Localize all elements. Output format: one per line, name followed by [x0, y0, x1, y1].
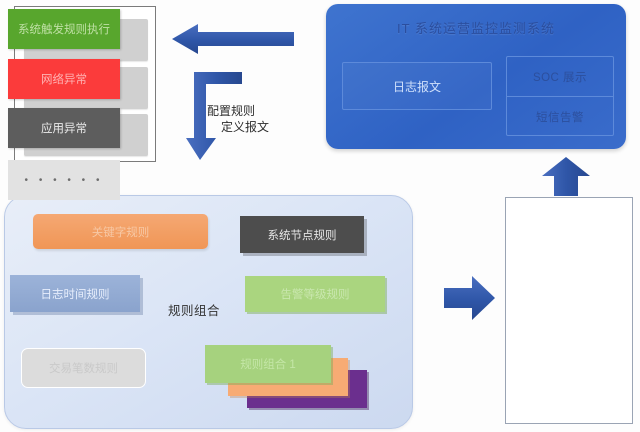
rule-combo-stack-1[interactable]: 规则组合 1 — [205, 345, 331, 383]
it-system-soc-display[interactable]: SOC 展示 — [507, 57, 613, 97]
diagram-canvas: 日志报文 1 日志报文 2 日志报文 3 — [0, 0, 640, 432]
result-item-more-dots[interactable]: • • • • • • — [8, 160, 120, 200]
result-item-rule-triggered[interactable]: 系统触发规则执行 — [8, 9, 120, 49]
config-rule-label: 配置规则 定义报文 — [207, 103, 269, 135]
rule-combination-label: 规则组合 — [168, 300, 220, 319]
rule-chip-system-node[interactable]: 系统节点规则 — [240, 216, 364, 253]
result-item-application-exception[interactable]: 应用异常 — [8, 108, 120, 148]
it-system-sms-alert[interactable]: 短信告警 — [507, 97, 613, 136]
result-item-network-exception[interactable]: 网络异常 — [8, 59, 120, 99]
rule-chip-keyword[interactable]: 关键字规则 — [33, 214, 208, 249]
config-rule-line2: 定义报文 — [207, 119, 269, 135]
it-system-title: IT 系统运营监控监测系统 — [326, 18, 626, 37]
right-arrow-icon — [444, 275, 496, 322]
up-arrow-icon — [540, 157, 592, 197]
config-rule-line1: 配置规则 — [207, 104, 255, 118]
rule-chip-alert-level[interactable]: 告警等级规则 — [245, 276, 385, 312]
it-system-feature-list: SOC 展示 短信告警 — [506, 56, 614, 136]
rule-chip-log-time[interactable]: 日志时间规则 — [10, 275, 140, 312]
left-arrow-icon — [172, 22, 294, 56]
it-system-panel[interactable]: IT 系统运营监控监测系统 日志报文 SOC 展示 短信告警 — [326, 4, 626, 149]
results-panel — [505, 197, 633, 424]
rule-chip-transaction-count[interactable]: 交易笔数规则 — [21, 348, 146, 388]
it-system-log-box[interactable]: 日志报文 — [342, 62, 492, 110]
